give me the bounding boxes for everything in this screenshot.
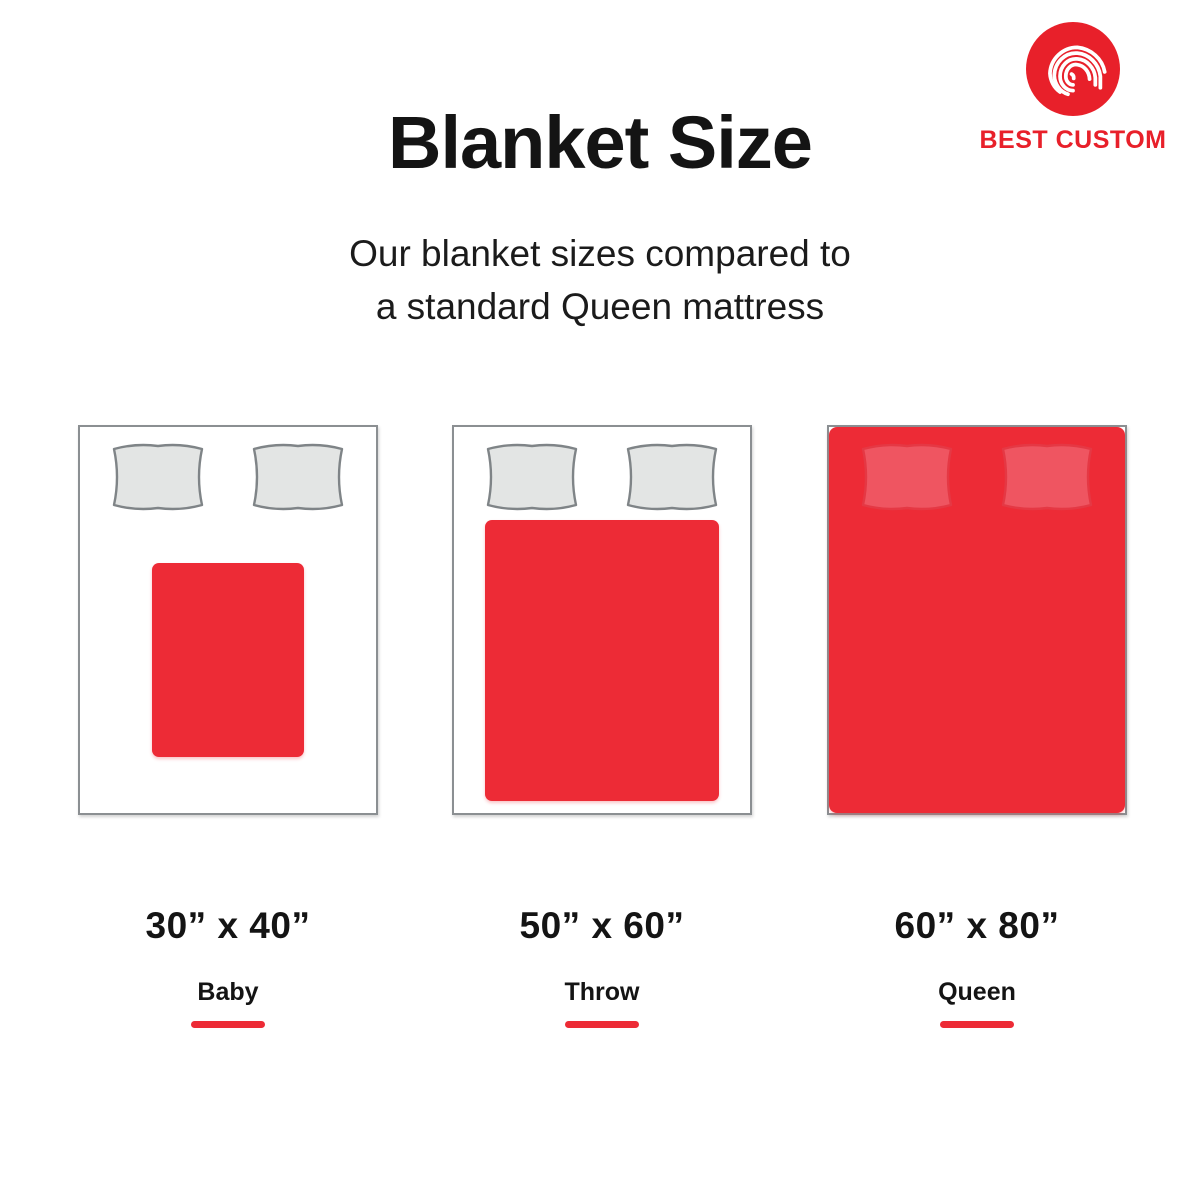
size-label-throw: Throw [452, 978, 752, 1007]
bed-diagram-baby [78, 425, 378, 815]
subtitle-line-1: Our blanket sizes compared to [0, 228, 1200, 281]
underline-bar [565, 1021, 639, 1028]
page-subtitle: Our blanket sizes compared to a standard… [0, 228, 1200, 333]
label-underline-queen [827, 1015, 1127, 1033]
fingerprint-spiral-icon [1026, 22, 1120, 116]
pillow-icon [997, 441, 1097, 513]
underline-bar [191, 1021, 265, 1028]
pillow-icon [482, 441, 582, 513]
bed-diagram-throw [452, 425, 752, 815]
label-underline-baby [78, 1015, 378, 1033]
underline-bar [940, 1021, 1014, 1028]
pillow-icon [108, 441, 208, 513]
size-label-queen: Queen [827, 978, 1127, 1007]
size-label-baby: Baby [78, 978, 378, 1007]
blanket-shape-throw [485, 520, 719, 801]
infographic-canvas: BEST CUSTOM Blanket Size Our blanket siz… [0, 0, 1200, 1200]
bed-diagram-queen [827, 425, 1127, 815]
blanket-shape-baby [152, 563, 304, 757]
size-dimensions-queen: 60” x 80” [827, 905, 1127, 947]
label-underline-throw [452, 1015, 752, 1033]
size-dimensions-baby: 30” x 40” [78, 905, 378, 947]
size-dimensions-throw: 50” x 60” [452, 905, 752, 947]
page-title: Blanket Size [0, 104, 1200, 182]
pillow-icon [248, 441, 348, 513]
pillow-icon [622, 441, 722, 513]
pillow-icon [857, 441, 957, 513]
subtitle-line-2: a standard Queen mattress [0, 281, 1200, 334]
